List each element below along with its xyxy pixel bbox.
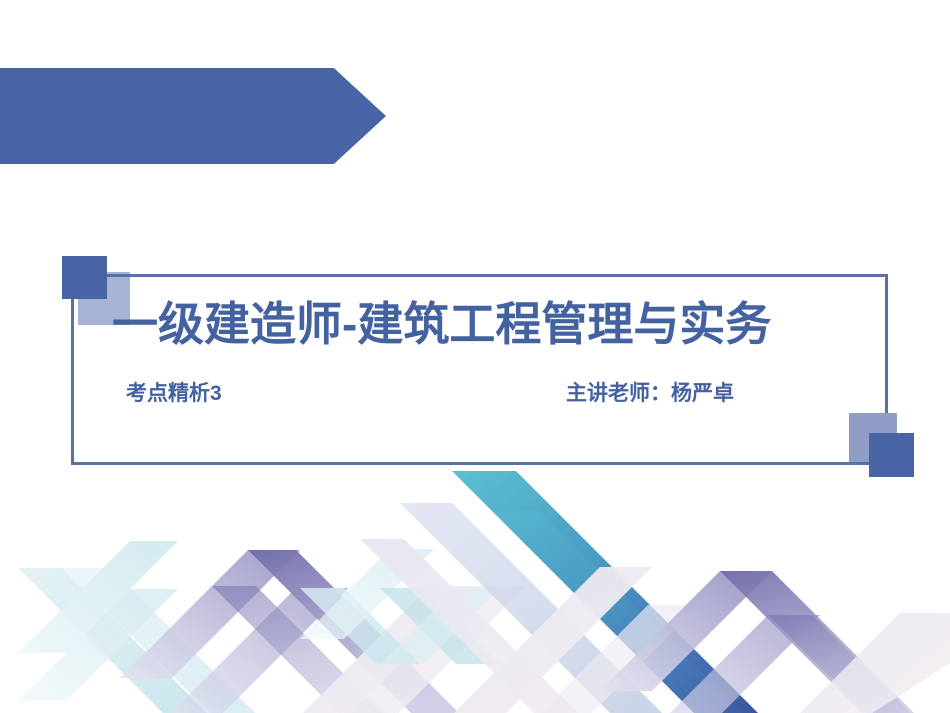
corner-square-top-left-dark [62,256,107,299]
slide-canvas: 一级建造师-建筑工程管理与实务 考点精析3 主讲老师：杨严卓 [0,0,950,713]
page-title: 一级建造师-建筑工程管理与实务 [112,298,771,351]
chevron-ribbon-pattern [0,453,950,713]
top-banner-arrow [0,68,386,164]
corner-square-bottom-right-dark [869,433,914,477]
lesson-subtitle: 考点精析3 [126,377,222,407]
instructor-label: 主讲老师：杨严卓 [566,377,734,407]
